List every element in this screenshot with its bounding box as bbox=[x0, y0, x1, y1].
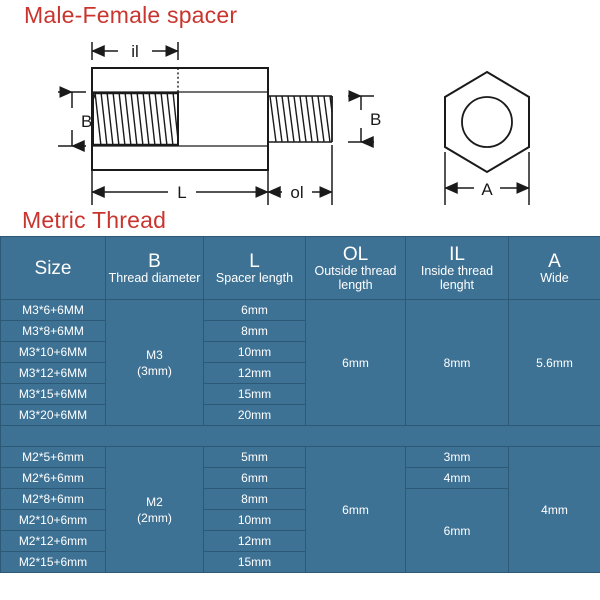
column-header-size-main: Size bbox=[1, 258, 105, 279]
page-root: Male-Female spacer bbox=[0, 0, 600, 600]
cell-thread-diameter-m2-sub: (2mm) bbox=[106, 510, 203, 526]
cell-inside-thread-length: 6mm bbox=[406, 489, 509, 573]
cell-size: M2*6+6mm bbox=[1, 468, 106, 489]
dimension-label-a: A bbox=[481, 180, 493, 199]
cell-spacer-length: 12mm bbox=[204, 531, 306, 552]
column-header-inside-thread-length: IL Inside thread lenght bbox=[406, 237, 509, 300]
cell-inside-thread-length: 3mm bbox=[406, 447, 509, 468]
table-group-m2: M2*5+6mm M2 (2mm) 5mm 6mm 3mm 4mm M2*6+6… bbox=[1, 447, 600, 573]
column-header-ol-main: OL bbox=[306, 244, 405, 265]
metric-thread-table: Size B Thread diameter L Spacer length O… bbox=[0, 236, 600, 573]
cell-outside-thread-length-m3: 6mm bbox=[306, 300, 406, 426]
dimension-label-b-right: B bbox=[370, 110, 381, 129]
cell-spacer-length: 6mm bbox=[204, 468, 306, 489]
table-group-separator bbox=[1, 426, 600, 447]
column-header-a-main: A bbox=[509, 251, 600, 272]
cell-spacer-length: 15mm bbox=[204, 552, 306, 573]
column-header-il-sub: Inside thread lenght bbox=[406, 265, 508, 292]
column-header-a-sub: Wide bbox=[509, 272, 600, 286]
column-header-thread-diameter: B Thread diameter bbox=[106, 237, 204, 300]
dimension-label-l: L bbox=[177, 183, 186, 202]
column-header-outside-thread-length: OL Outside thread length bbox=[306, 237, 406, 300]
spacer-technical-drawing: il B B L ol A bbox=[0, 30, 600, 205]
cell-thread-diameter-m2-main: M2 bbox=[106, 494, 203, 510]
female-thread-icon bbox=[93, 92, 178, 146]
male-thread-icon bbox=[268, 96, 332, 142]
cell-size: M3*8+6MM bbox=[1, 321, 106, 342]
cell-size: M2*5+6mm bbox=[1, 447, 106, 468]
cell-thread-diameter-m3: M3 (3mm) bbox=[106, 300, 204, 426]
cell-thread-diameter-m3-main: M3 bbox=[106, 347, 203, 363]
cell-size: M3*6+6MM bbox=[1, 300, 106, 321]
column-header-b-main: B bbox=[106, 251, 203, 272]
hex-nut-icon bbox=[445, 72, 529, 172]
table-group-m3: M3*6+6MM M3 (3mm) 6mm 6mm 8mm 5.6mm M3*8… bbox=[1, 300, 600, 426]
page-title-male-female-spacer: Male-Female spacer bbox=[24, 2, 237, 29]
column-header-il-main: IL bbox=[406, 244, 508, 265]
cell-spacer-length: 20mm bbox=[204, 405, 306, 426]
cell-size: M3*12+6MM bbox=[1, 363, 106, 384]
column-header-l-main: L bbox=[204, 251, 305, 272]
column-header-b-sub: Thread diameter bbox=[106, 272, 203, 286]
cell-spacer-length: 12mm bbox=[204, 363, 306, 384]
cell-inside-thread-length-m3: 8mm bbox=[406, 300, 509, 426]
cell-inside-thread-length: 4mm bbox=[406, 468, 509, 489]
cell-spacer-length: 5mm bbox=[204, 447, 306, 468]
cell-size: M2*10+6mm bbox=[1, 510, 106, 531]
cell-wide-m3: 5.6mm bbox=[509, 300, 600, 426]
dimension-label-il: il bbox=[131, 42, 139, 61]
cell-size: M3*10+6MM bbox=[1, 342, 106, 363]
cell-spacer-length: 6mm bbox=[204, 300, 306, 321]
page-title-metric-thread: Metric Thread bbox=[22, 207, 166, 234]
cell-wide-m2: 4mm bbox=[509, 447, 600, 573]
cell-outside-thread-length-m2: 6mm bbox=[306, 447, 406, 573]
table-row: M3*6+6MM M3 (3mm) 6mm 6mm 8mm 5.6mm bbox=[1, 300, 600, 321]
cell-size: M3*15+6MM bbox=[1, 384, 106, 405]
cell-size: M3*20+6MM bbox=[1, 405, 106, 426]
table-row: M2*5+6mm M2 (2mm) 5mm 6mm 3mm 4mm bbox=[1, 447, 600, 468]
cell-spacer-length: 8mm bbox=[204, 321, 306, 342]
cell-size: M2*8+6mm bbox=[1, 489, 106, 510]
cell-spacer-length: 8mm bbox=[204, 489, 306, 510]
column-header-spacer-length: L Spacer length bbox=[204, 237, 306, 300]
column-header-wide: A Wide bbox=[509, 237, 600, 300]
spacer-body-icon bbox=[92, 68, 268, 170]
cell-size: M2*12+6mm bbox=[1, 531, 106, 552]
column-header-l-sub: Spacer length bbox=[204, 272, 305, 286]
dimension-label-b-left: B bbox=[81, 112, 92, 131]
table-header-row: Size B Thread diameter L Spacer length O… bbox=[1, 237, 600, 300]
cell-spacer-length: 10mm bbox=[204, 342, 306, 363]
cell-size: M2*15+6mm bbox=[1, 552, 106, 573]
dimension-label-ol: ol bbox=[290, 183, 303, 202]
column-header-size: Size bbox=[1, 237, 106, 300]
cell-spacer-length: 10mm bbox=[204, 510, 306, 531]
cell-thread-diameter-m2: M2 (2mm) bbox=[106, 447, 204, 573]
cell-spacer-length: 15mm bbox=[204, 384, 306, 405]
column-header-ol-sub: Outside thread length bbox=[306, 265, 405, 292]
cell-thread-diameter-m3-sub: (3mm) bbox=[106, 363, 203, 379]
